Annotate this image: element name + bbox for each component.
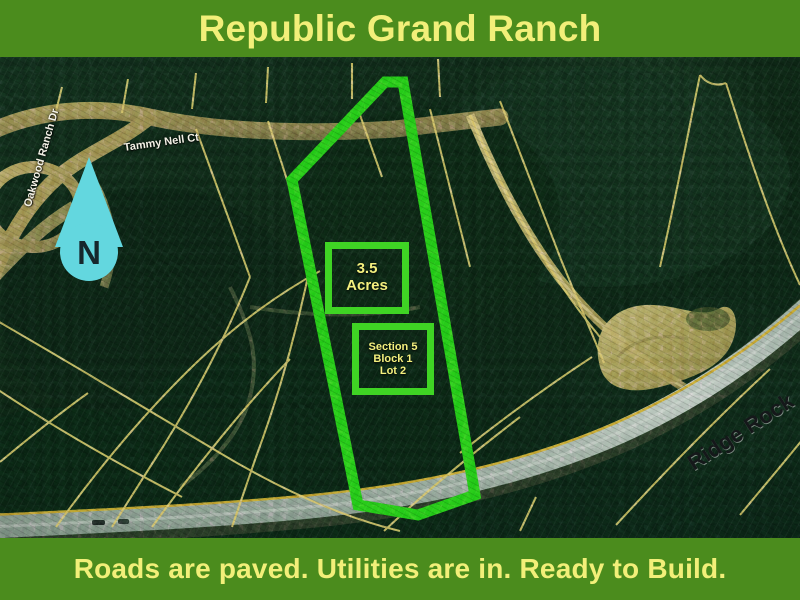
listing-map-graphic: Republic Grand Ranch (0, 0, 800, 600)
legal-block: Block 1 (373, 353, 412, 365)
aerial-map[interactable]: Tammy Nell Ct Oakwood Ranch Dr Ridge Roc… (0, 57, 800, 538)
compass-disc: N (60, 223, 118, 281)
page-title: Republic Grand Ranch (199, 10, 602, 47)
footer-banner: Roads are paved. Utilities are in. Ready… (0, 538, 800, 600)
legal-section: Section 5 (369, 341, 418, 353)
legal-lot: Lot 2 (380, 365, 406, 377)
acreage-unit: Acres (346, 278, 388, 295)
acreage-callout-box: 3.5 Acres (325, 242, 409, 314)
compass-north-icon: N (55, 157, 123, 281)
compass-north-letter: N (77, 236, 101, 269)
legal-description-callout-box: Section 5 Block 1 Lot 2 (352, 323, 434, 395)
title-banner: Republic Grand Ranch (0, 0, 800, 57)
footer-tagline: Roads are paved. Utilities are in. Ready… (74, 555, 727, 583)
acreage-value: 3.5 (357, 261, 378, 278)
